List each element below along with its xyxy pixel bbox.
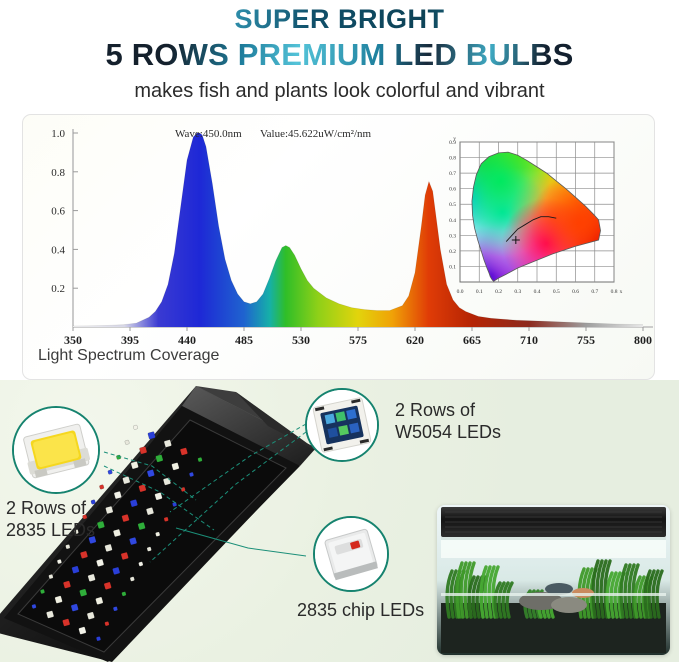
svg-text:1.0: 1.0 (51, 128, 65, 140)
svg-text:0.2: 0.2 (495, 289, 502, 295)
svg-text:620: 620 (406, 333, 424, 347)
svg-text:0.1: 0.1 (476, 289, 483, 295)
callout-2835-chip-leds-label: 2835 chip LEDs (297, 600, 424, 622)
led-chip-white-icon (12, 406, 100, 494)
svg-text:0.3: 0.3 (514, 289, 521, 295)
svg-text:665: 665 (463, 333, 481, 347)
svg-text:395: 395 (121, 333, 139, 347)
spectrum-caption: Light Spectrum Coverage (38, 347, 219, 365)
callout-w5054-leds-label: 2 Rows of W5054 LEDs (395, 400, 501, 443)
svg-text:y: y (453, 136, 456, 142)
led-chip-rgb-icon (305, 388, 379, 462)
svg-text:530: 530 (292, 333, 310, 347)
svg-text:0.2: 0.2 (449, 249, 456, 255)
svg-text:575: 575 (349, 333, 367, 347)
svg-text:0.5: 0.5 (553, 289, 560, 295)
callout-2835-chip-leds[interactable]: 2835 chip LEDs (313, 516, 389, 592)
led-chip-clear-icon (313, 516, 389, 592)
svg-text:440: 440 (178, 333, 196, 347)
light-spectrum-panel: 0.20.40.60.81.03503954404855305756206657… (22, 114, 655, 380)
headline-line-2: 5 ROWS PREMIUM LED BULBS (0, 35, 679, 73)
svg-text:0.6: 0.6 (572, 289, 579, 295)
svg-text:0.3: 0.3 (449, 233, 456, 239)
annotation-wave: Wave:450.0nm (175, 128, 242, 140)
svg-text:0.7: 0.7 (591, 289, 598, 295)
cie-chart-svg: 0.00.10.20.30.40.50.60.70.8x0.10.20.30.4… (438, 132, 634, 314)
aquarium-photo-svg (437, 505, 670, 655)
svg-text:x: x (620, 289, 623, 295)
svg-text:0.8: 0.8 (611, 289, 618, 295)
svg-text:350: 350 (64, 333, 82, 347)
headline-line-1: SUPER BRIGHT (0, 0, 679, 35)
promo-page: SUPER BRIGHT 5 ROWS PREMIUM LED BULBS ma… (0, 0, 679, 662)
callout-w5054-leds[interactable]: 2 Rows of W5054 LEDs (305, 388, 379, 462)
svg-text:0.8: 0.8 (449, 156, 456, 162)
svg-text:0.4: 0.4 (51, 244, 65, 256)
aquarium-photo (437, 505, 670, 655)
headline-subtitle: makes fish and plants look colorful and … (0, 73, 679, 103)
svg-text:0.4: 0.4 (534, 289, 541, 295)
svg-text:0.6: 0.6 (449, 187, 456, 193)
svg-text:0.1: 0.1 (449, 264, 456, 270)
cie-chromaticity-diagram: 0.00.10.20.30.40.50.60.70.8x0.10.20.30.4… (438, 132, 634, 314)
spectrum-annotation: Wave:450.0nm Value:45.622uW/cm²/nm (175, 128, 371, 140)
svg-text:0.2: 0.2 (51, 283, 65, 295)
svg-text:755: 755 (577, 333, 595, 347)
svg-text:0.0: 0.0 (457, 289, 464, 295)
svg-text:0.5: 0.5 (449, 202, 456, 208)
annotation-value: Value:45.622uW/cm²/nm (260, 128, 371, 140)
callout-2835-leds-label: 2 Rows of 2835 LEDs (6, 498, 95, 541)
svg-text:710: 710 (520, 333, 538, 347)
svg-text:800: 800 (634, 333, 652, 347)
svg-text:0.6: 0.6 (51, 206, 65, 218)
svg-text:0.7: 0.7 (449, 171, 456, 177)
headline-block: SUPER BRIGHT 5 ROWS PREMIUM LED BULBS ma… (0, 0, 679, 108)
svg-text:0.4: 0.4 (449, 218, 456, 224)
callout-2835-leds[interactable]: 2 Rows of 2835 LEDs (12, 406, 100, 494)
svg-text:0.8: 0.8 (51, 167, 65, 179)
svg-text:485: 485 (235, 333, 253, 347)
